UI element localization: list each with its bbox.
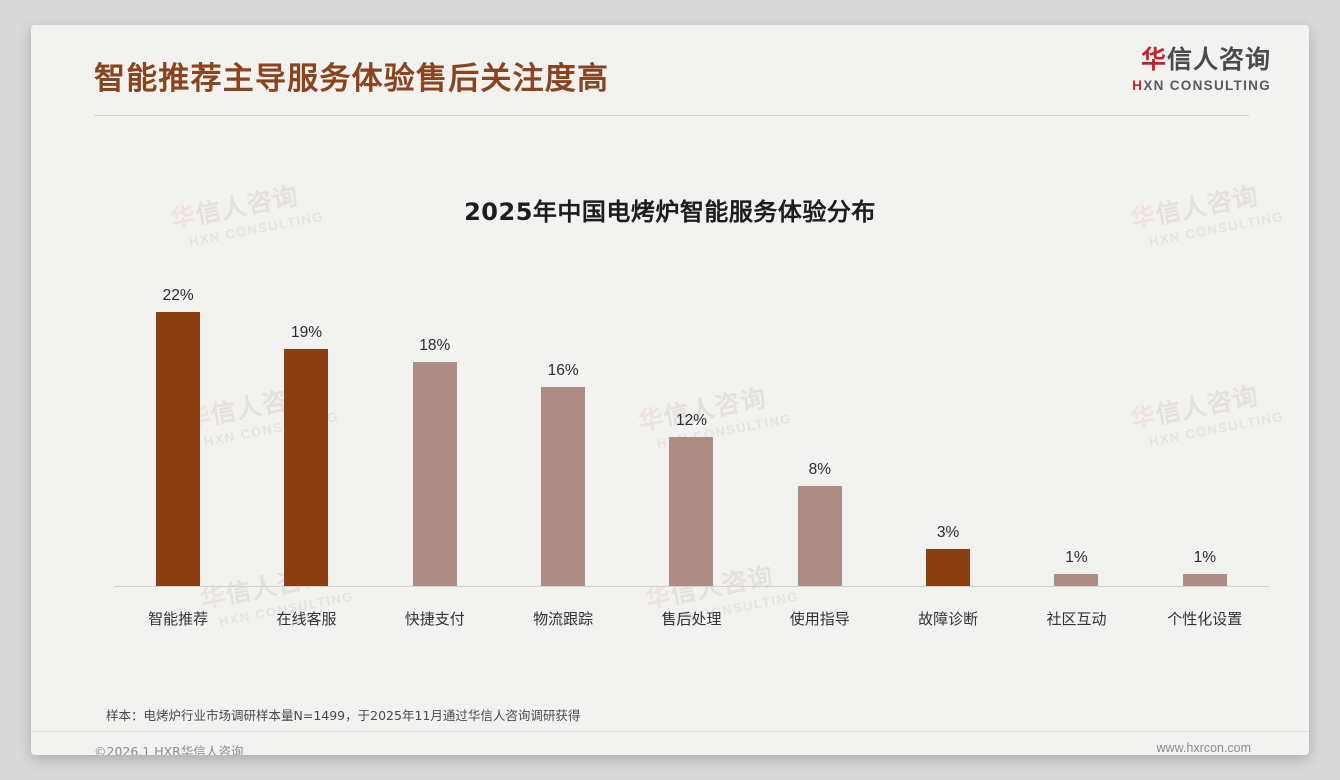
bar-rect[interactable] [926, 549, 970, 586]
bar-series: 22%智能推荐19%在线客服18%快捷支付16%物流跟踪12%售后处理8%使用指… [114, 286, 1269, 586]
bar-value-label: 1% [1194, 549, 1216, 567]
brand-logo-chinese-first: 华 [1141, 45, 1167, 74]
slide-root: 智能推荐主导服务体验售后关注度高 华信人咨询 HXN CONSULTING 华信… [0, 0, 1340, 780]
bar-value-label: 19% [291, 324, 322, 342]
bar-rect[interactable] [541, 387, 585, 586]
bar-group[interactable]: 16%物流跟踪 [499, 286, 627, 586]
x-axis-category-label: 故障诊断 [918, 608, 978, 629]
bar-value-label: 8% [809, 461, 831, 479]
sample-footnote: 样本：电烤炉行业市场调研样本量N=1499，于2025年11月通过华信人咨询调研… [106, 705, 580, 724]
slide-card: 智能推荐主导服务体验售后关注度高 华信人咨询 HXN CONSULTING 华信… [31, 25, 1309, 755]
footer-divider [31, 731, 1309, 732]
bar-group[interactable]: 1%个性化设置 [1141, 286, 1269, 586]
page-title: 智能推荐主导服务体验售后关注度高 [94, 53, 609, 98]
bar-rect[interactable] [1054, 574, 1098, 586]
slide-header: 智能推荐主导服务体验售后关注度高 华信人咨询 HXN CONSULTING [31, 25, 1309, 120]
brand-logo-chinese-rest: 信人咨询 [1167, 45, 1271, 74]
bar-rect[interactable] [284, 349, 328, 586]
bar-value-label: 22% [163, 287, 194, 305]
bar-rect[interactable] [413, 362, 457, 586]
x-axis-line [114, 586, 1269, 587]
chart-title: 2025年中国电烤炉智能服务体验分布 [31, 192, 1309, 227]
bar-chart-plot: 22%智能推荐19%在线客服18%快捷支付16%物流跟踪12%售后处理8%使用指… [76, 250, 1271, 635]
bar-value-label: 3% [937, 524, 959, 542]
bar-rect[interactable] [798, 486, 842, 586]
bar-value-label: 1% [1065, 549, 1087, 567]
bar-rect[interactable] [1183, 574, 1227, 586]
chart-area: 2025年中国电烤炉智能服务体验分布 22%智能推荐19%在线客服18%快捷支付… [31, 120, 1309, 680]
brand-logo-english-first: H [1132, 78, 1143, 93]
bar-group[interactable]: 12%售后处理 [627, 286, 755, 586]
brand-logo-chinese: 华信人咨询 [1132, 47, 1271, 72]
brand-logo: 华信人咨询 HXN CONSULTING [1132, 47, 1271, 93]
x-axis-category-label: 物流跟踪 [533, 608, 593, 629]
bar-value-label: 18% [419, 337, 450, 355]
bar-group[interactable]: 18%快捷支付 [371, 286, 499, 586]
website-url: www.hxrcon.com [1157, 741, 1251, 755]
brand-logo-english-rest: XN CONSULTING [1143, 78, 1271, 93]
x-axis-category-label: 智能推荐 [148, 608, 208, 629]
x-axis-category-label: 售后处理 [661, 608, 721, 629]
bar-group[interactable]: 1%社区互动 [1012, 286, 1140, 586]
header-divider [94, 115, 1249, 116]
x-axis-category-label: 使用指导 [790, 608, 850, 629]
bar-rect[interactable] [669, 437, 713, 586]
x-axis-category-label: 在线客服 [276, 608, 336, 629]
bar-value-label: 12% [676, 412, 707, 430]
bar-group[interactable]: 3%故障诊断 [884, 286, 1012, 586]
bar-group[interactable]: 8%使用指导 [756, 286, 884, 586]
x-axis-category-label: 快捷支付 [405, 608, 465, 629]
bar-group[interactable]: 19%在线客服 [242, 286, 370, 586]
x-axis-category-label: 个性化设置 [1167, 608, 1242, 629]
bar-rect[interactable] [156, 312, 200, 586]
bar-value-label: 16% [548, 362, 579, 380]
bar-group[interactable]: 22%智能推荐 [114, 286, 242, 586]
x-axis-category-label: 社区互动 [1046, 608, 1106, 629]
copyright-text: ©2026.1 HXR华信人咨询 [94, 741, 243, 755]
brand-logo-english: HXN CONSULTING [1132, 79, 1271, 93]
